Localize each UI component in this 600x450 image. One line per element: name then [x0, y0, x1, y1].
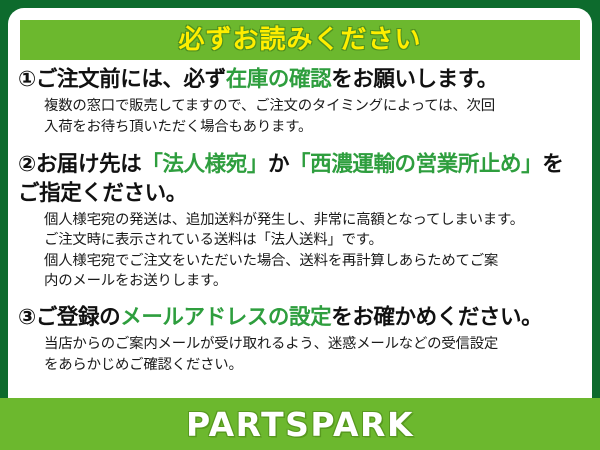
notice-panel: 必ずお読みください ①ご注文前には、必ず在庫の確認をお願いします。 複数の窓口で… [8, 8, 592, 442]
spacer-1 [18, 139, 582, 151]
notice-item-2: ②お届け先は「法人様宛」か「西濃運輸の営業所止め」をご指定ください。 個人様宅宛… [18, 151, 582, 292]
notice-banner: 必ずお読みください ①ご注文前には、必ず在庫の確認をお願いします。 複数の窓口で… [0, 0, 600, 450]
header-title: 必ずお読みください [178, 27, 421, 53]
notice-item-2-heading: ②お届け先は「法人様宛」か「西濃運輸の営業所止め」をご指定ください。 [18, 151, 582, 208]
notice-item-2-heading-highlight-2: 「西濃運輸の営業所止め」 [289, 152, 542, 177]
notice-item-2-heading-before: お届け先は [36, 152, 142, 177]
notice-item-2-body-line-3: 個人様宅宛でご注文をいただいた場合、送料を再計算しあらためてご案 [44, 251, 582, 271]
notice-item-3: ③ご登録のメールアドレスの設定をお確かめください。 当店からのご案内メールが受け… [18, 304, 582, 375]
brand-logo: PARTSPARK [186, 408, 414, 441]
spacer-2 [18, 294, 582, 304]
notice-item-3-heading-after: をお確かめください。 [331, 305, 542, 330]
notice-item-2-body-line-4: 内のメールをお送りします。 [44, 271, 582, 291]
notice-item-2-body-line-2: ご注文時に表示されている送料は「法人送料」です。 [44, 230, 582, 250]
notice-item-2-body: 個人様宅宛の発送は、追加送料が発生し、非常に高額となってしまいます。 ご注文時に… [44, 210, 582, 292]
notice-item-3-body-line-2: をあらかじめご確認ください。 [44, 355, 582, 375]
notice-item-1-heading-highlight: 在庫の確認 [226, 67, 332, 92]
notice-item-1: ①ご注文前には、必ず在庫の確認をお願いします。 複数の窓口で販売してますので、ご… [18, 66, 582, 137]
notice-item-3-heading: ③ご登録のメールアドレスの設定をお確かめください。 [18, 304, 582, 332]
header-band: 必ずお読みください [20, 20, 580, 60]
notice-item-1-body-line-2: 入荷をお待ち頂いただく場合もあります。 [44, 117, 582, 137]
notice-item-1-body-line-1: 複数の窓口で販売してますので、ご注文のタイミングによっては、次回 [44, 96, 582, 116]
notice-item-3-heading-highlight: メールアドレスの設定 [120, 305, 331, 330]
notice-item-3-body-line-1: 当店からのご案内メールが受け取れるよう、迷惑メールなどの受信設定 [44, 334, 582, 354]
notice-item-2-marker: ② [18, 152, 36, 177]
notice-item-1-heading-after: をお願いします。 [331, 67, 498, 92]
notice-item-1-heading-before: ご注文前には、必ず [36, 67, 226, 92]
notice-item-3-heading-before: ご登録の [36, 305, 120, 330]
notice-item-1-heading: ①ご注文前には、必ず在庫の確認をお願いします。 [18, 66, 582, 94]
notice-item-1-body: 複数の窓口で販売してますので、ご注文のタイミングによっては、次回 入荷をお待ち頂… [44, 96, 582, 137]
notice-item-3-body: 当店からのご案内メールが受け取れるよう、迷惑メールなどの受信設定 をあらかじめご… [44, 334, 582, 375]
notice-item-2-heading-middle: か [268, 152, 289, 177]
notice-item-3-marker: ③ [18, 305, 36, 330]
notice-item-1-marker: ① [18, 67, 36, 92]
notice-item-2-heading-highlight: 「法人様宛」 [141, 152, 268, 177]
footer-band: PARTSPARK [0, 398, 600, 450]
notice-content: ①ご注文前には、必ず在庫の確認をお願いします。 複数の窓口で販売してますので、ご… [8, 66, 592, 377]
notice-item-2-body-line-1: 個人様宅宛の発送は、追加送料が発生し、非常に高額となってしまいます。 [44, 210, 582, 230]
